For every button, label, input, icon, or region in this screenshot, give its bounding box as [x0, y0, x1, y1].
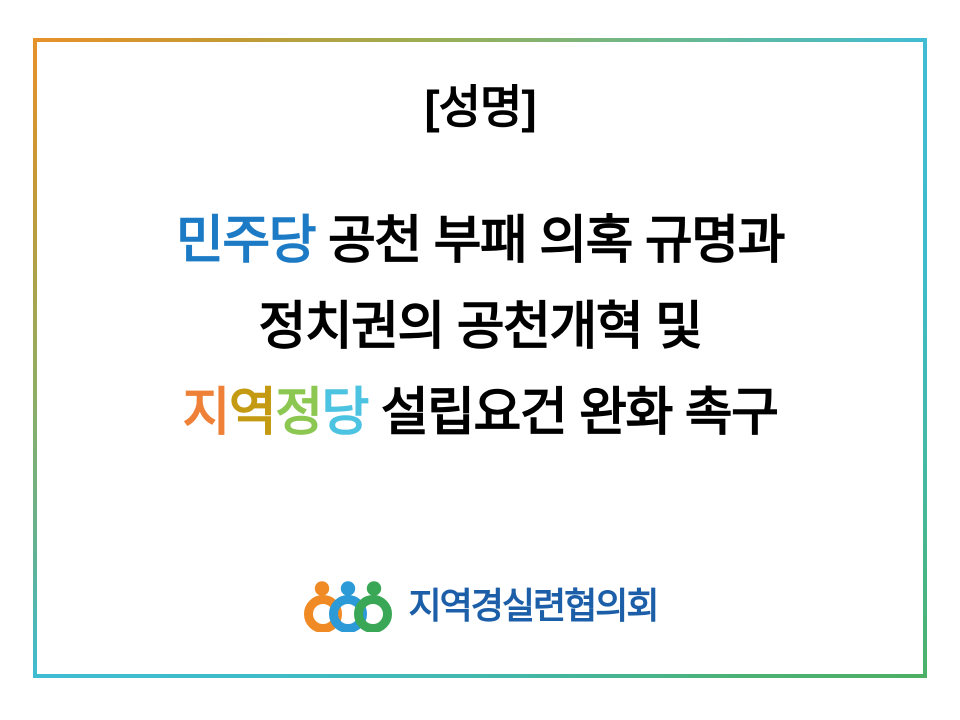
headline-keyword-jeong: 정	[275, 384, 321, 442]
frame-edge-right	[923, 38, 927, 678]
headline-line-1: 민주당 공천 부패 의혹 규명과	[176, 198, 784, 284]
three-people-circles-logo-icon	[303, 580, 399, 632]
headline-keyword-dang: 당	[322, 384, 368, 442]
headline-line-3-rest: 설립요건 완화 촉구	[368, 384, 778, 442]
headline-keyword-yeok: 역	[229, 384, 275, 442]
organization-name: 지역경실련협의회	[409, 588, 658, 624]
headline-block: 민주당 공천 부패 의혹 규명과 정치권의 공천개혁 및 지역정당 설립요건 완…	[176, 198, 784, 456]
organization-logo: 지역경실련협의회	[37, 580, 923, 632]
statement-kicker: [성명]	[424, 84, 535, 130]
headline-line-1-rest: 공천 부패 의혹 규명과	[315, 212, 784, 270]
headline-line-3: 지역정당 설립요건 완화 촉구	[176, 370, 784, 456]
headline-keyword-ji: 지	[183, 384, 229, 442]
slide-content: [성명] 민주당 공천 부패 의혹 규명과 정치권의 공천개혁 및 지역정당 설…	[37, 42, 923, 674]
statement-slide: [성명] 민주당 공천 부패 의혹 규명과 정치권의 공천개혁 및 지역정당 설…	[0, 0, 960, 720]
headline-keyword-party: 민주당	[176, 212, 315, 270]
headline-line-2-text: 정치권의 공천개혁 및	[259, 298, 702, 356]
headline-line-2: 정치권의 공천개혁 및	[176, 284, 784, 370]
frame-edge-bottom	[33, 674, 927, 678]
